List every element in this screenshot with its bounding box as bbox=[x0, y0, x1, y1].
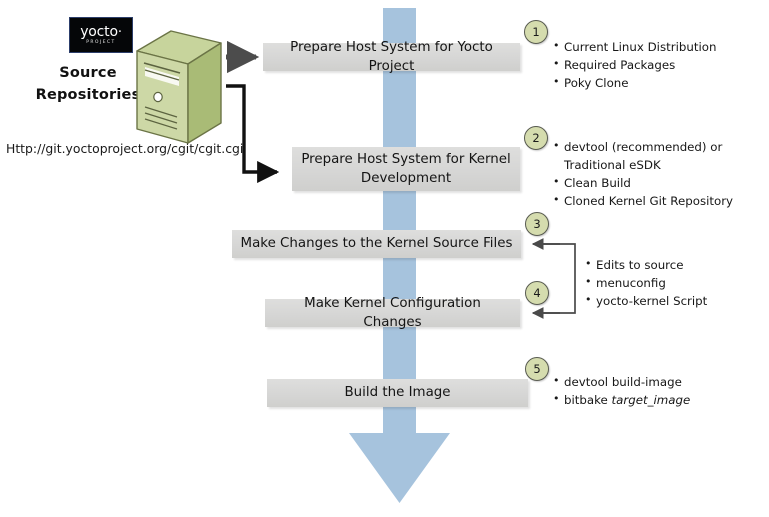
bullet-item: Required Packages bbox=[553, 56, 763, 74]
flow-direction-arrow bbox=[343, 8, 456, 508]
bullet-item: devtool (recommended) or Traditional eSD… bbox=[553, 138, 758, 174]
yocto-project-logo: yocto· PROJECT bbox=[69, 17, 133, 53]
step-number-4: 4 bbox=[525, 281, 549, 305]
bullet-list-step5: devtool build-imagebitbake target_image bbox=[553, 373, 758, 409]
bullet-item: Edits to source bbox=[585, 256, 760, 274]
yocto-logo-text: yocto bbox=[80, 24, 118, 40]
process-box-step3[interactable]: Make Changes to the Kernel Source Files bbox=[232, 230, 521, 258]
bullet-item: Cloned Kernel Git Repository bbox=[553, 192, 758, 210]
bullet-item-emphasis: target_image bbox=[612, 393, 691, 407]
bullet-item: menuconfig bbox=[585, 274, 760, 292]
step-number-1: 1 bbox=[524, 20, 548, 44]
source-repositories-label: Source Repositories bbox=[30, 62, 146, 107]
bullet-item: devtool build-image bbox=[553, 373, 758, 391]
yocto-logo-dot: · bbox=[118, 25, 122, 40]
step-number-2: 2 bbox=[524, 126, 548, 150]
process-box-step2[interactable]: Prepare Host System for Kernel Developme… bbox=[292, 147, 520, 191]
bullet-item: Current Linux Distribution bbox=[553, 38, 763, 56]
step-number-5: 5 bbox=[525, 357, 549, 381]
bullet-item: Poky Clone bbox=[553, 74, 763, 92]
bullet-item: bitbake target_image bbox=[553, 391, 758, 409]
connector-server-to-step2 bbox=[226, 86, 277, 172]
yocto-logo-wordmark: yocto· bbox=[80, 25, 122, 39]
server-icon bbox=[133, 29, 225, 147]
process-box-step4[interactable]: Make Kernel Configuration Changes bbox=[265, 299, 520, 327]
bullet-list-step2: devtool (recommended) or Traditional eSD… bbox=[553, 138, 758, 210]
workflow-diagram: yocto· PROJECT Source Repositories Http:… bbox=[0, 0, 769, 517]
bullet-item: Clean Build bbox=[553, 174, 758, 192]
process-box-step5[interactable]: Build the Image bbox=[267, 379, 528, 407]
step-number-3: 3 bbox=[525, 212, 549, 236]
bullet-list-steps-3-4: Edits to sourcemenuconfigyocto-kernel Sc… bbox=[585, 256, 760, 310]
yocto-logo-subtitle: PROJECT bbox=[86, 41, 115, 45]
bullet-item: yocto-kernel Script bbox=[585, 292, 760, 310]
source-repositories-line1: Source bbox=[30, 62, 146, 84]
process-box-step1[interactable]: Prepare Host System for Yocto Project bbox=[263, 43, 520, 71]
bullet-list-step1: Current Linux DistributionRequired Packa… bbox=[553, 38, 763, 92]
source-repositories-line2: Repositories bbox=[30, 84, 146, 106]
